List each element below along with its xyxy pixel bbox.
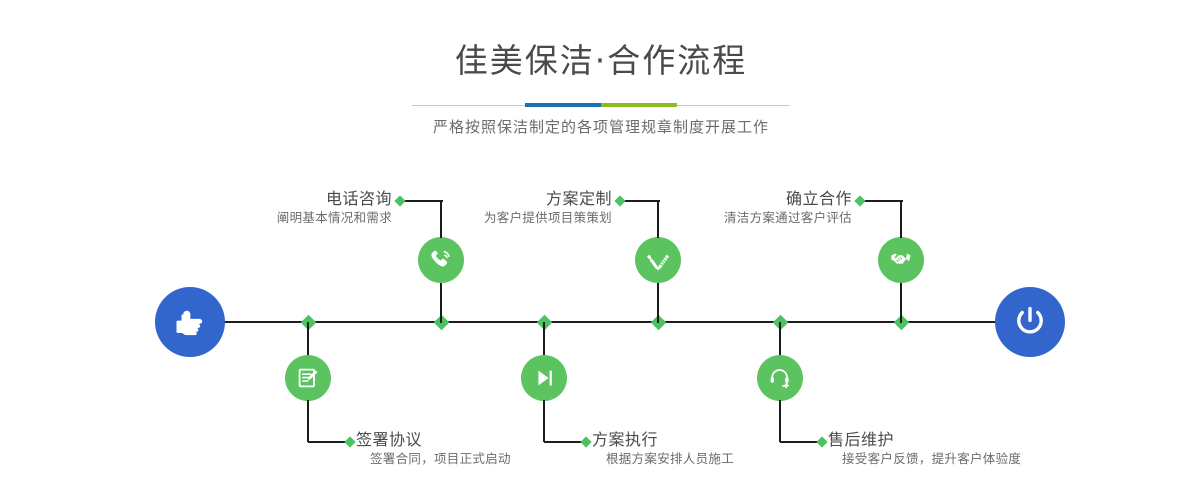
connector-elbow-v-6 xyxy=(779,400,781,442)
connector-stem-1 xyxy=(440,283,442,323)
connector-elbow-v-2 xyxy=(307,400,309,442)
connector-tip-1 xyxy=(394,195,405,206)
headset-plus-icon xyxy=(767,365,793,391)
connector-elbow-v-3 xyxy=(657,200,659,238)
connector-stem-3 xyxy=(657,283,659,323)
timeline-start-node xyxy=(155,287,225,357)
step-title-4: 方案执行 xyxy=(592,430,842,450)
step-label-2: 签署协议 签署合同，项目正式启动 xyxy=(356,430,606,468)
step-desc-1: 阐明基本情况和需求 xyxy=(200,209,392,227)
step-title-3: 方案定制 xyxy=(420,189,612,209)
connector-elbow-v-4 xyxy=(543,400,545,442)
step-title-2: 签署协议 xyxy=(356,430,606,450)
play-skip-icon xyxy=(531,365,557,391)
connector-tip-2 xyxy=(344,436,355,447)
power-icon xyxy=(1009,301,1051,343)
flow-infographic: 佳美保洁·合作流程 严格按照保洁制定的各项管理规章制度开展工作 xyxy=(0,0,1202,502)
connector-elbow-v-5 xyxy=(900,200,902,238)
step-desc-2: 签署合同，项目正式启动 xyxy=(356,450,606,468)
connector-stem-2 xyxy=(307,322,309,356)
connector-tip-5 xyxy=(854,195,865,206)
step-label-6: 售后维护 接受客户反馈，提升客户体验度 xyxy=(828,430,1118,468)
step-icon-5 xyxy=(878,237,924,283)
step-desc-6: 接受客户反馈，提升客户体验度 xyxy=(828,450,1118,468)
connector-stem-4 xyxy=(543,322,545,356)
step-desc-4: 根据方案安排人员施工 xyxy=(592,450,842,468)
step-label-4: 方案执行 根据方案安排人员施工 xyxy=(592,430,842,468)
step-icon-3 xyxy=(635,237,681,283)
connector-tip-3 xyxy=(614,195,625,206)
step-label-3: 方案定制 为客户提供项目策策划 xyxy=(420,189,612,227)
step-icon-2 xyxy=(285,355,331,401)
step-icon-6 xyxy=(757,355,803,401)
step-title-5: 确立合作 xyxy=(660,189,852,209)
step-title-1: 电话咨询 xyxy=(200,189,392,209)
connector-elbow-h-3 xyxy=(620,200,660,202)
pencil-ruler-icon xyxy=(645,247,671,273)
phone-call-icon xyxy=(428,247,454,273)
step-desc-5: 清洁方案通过客户评估 xyxy=(660,209,852,227)
step-desc-3: 为客户提供项目策策划 xyxy=(420,209,612,227)
step-label-1: 电话咨询 阐明基本情况和需求 xyxy=(200,189,392,227)
process-timeline: 电话咨询 阐明基本情况和需求 签署协议 xyxy=(0,0,1202,502)
step-title-6: 售后维护 xyxy=(828,430,1118,450)
connector-stem-5 xyxy=(900,283,902,323)
connector-elbow-h-5 xyxy=(860,200,903,202)
step-icon-4 xyxy=(521,355,567,401)
pointing-hand-icon xyxy=(170,302,210,342)
timeline-end-node xyxy=(995,287,1065,357)
step-label-5: 确立合作 清洁方案通过客户评估 xyxy=(660,189,852,227)
step-icon-1 xyxy=(418,237,464,283)
connector-stem-6 xyxy=(779,322,781,356)
document-pen-icon xyxy=(295,365,321,391)
handshake-icon xyxy=(888,247,914,273)
